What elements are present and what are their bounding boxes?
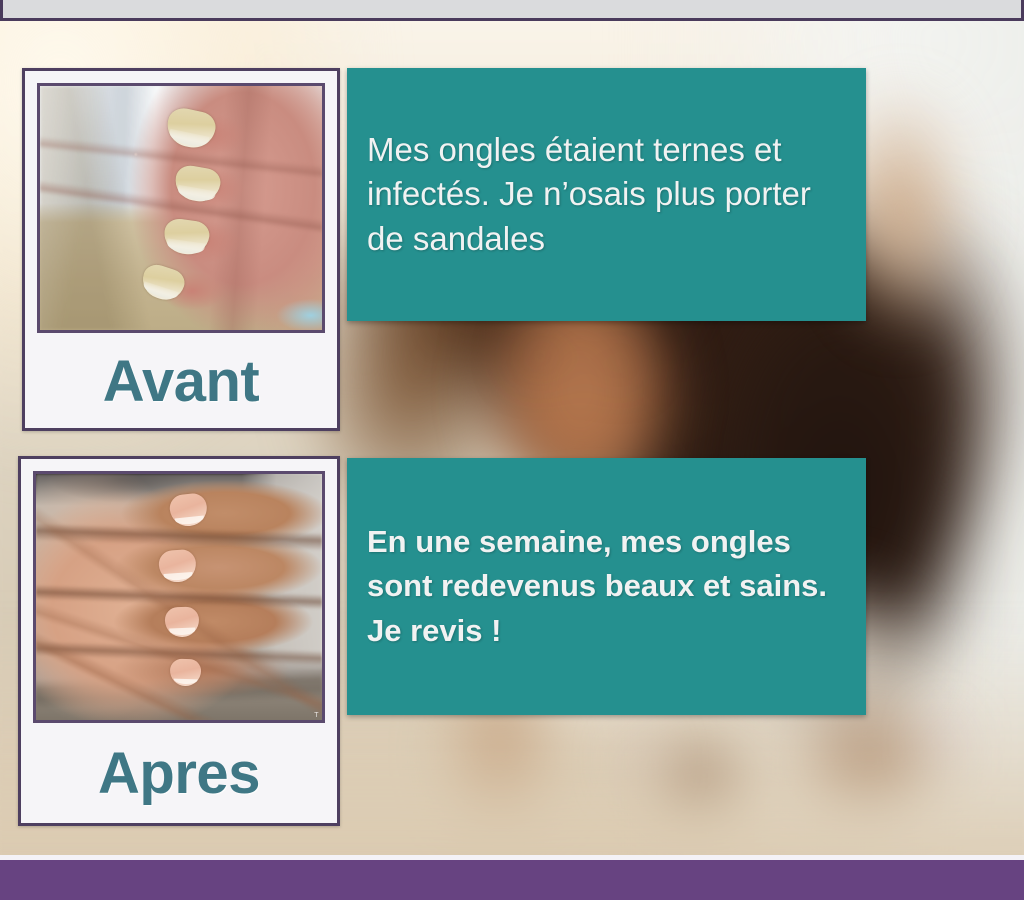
before-nails-photo <box>40 86 322 330</box>
before-card-label: Avant <box>37 343 325 420</box>
slide-canvas: Avant T Apres Mes ongle <box>0 0 1024 900</box>
after-testimonial-text: En une semaine, mes ongles sont redevenu… <box>347 520 866 652</box>
after-nails-photo: T <box>36 474 322 720</box>
before-card[interactable]: Avant <box>22 68 340 431</box>
after-card[interactable]: T Apres <box>18 456 340 826</box>
before-testimonial-text: Mes ongles étaient ternes et infectés. J… <box>347 128 866 261</box>
after-photo-frame: T <box>33 471 325 723</box>
before-photo-frame <box>37 83 325 333</box>
photo-corner-highlight <box>40 86 322 330</box>
photo-watermark: T <box>314 712 319 719</box>
after-testimonial-box: En une semaine, mes ongles sont redevenu… <box>347 458 866 715</box>
after-card-label: Apres <box>33 733 325 815</box>
before-testimonial-box: Mes ongles étaient ternes et infectés. J… <box>347 68 866 321</box>
bottom-bar <box>0 855 1024 900</box>
top-bar <box>0 0 1024 21</box>
